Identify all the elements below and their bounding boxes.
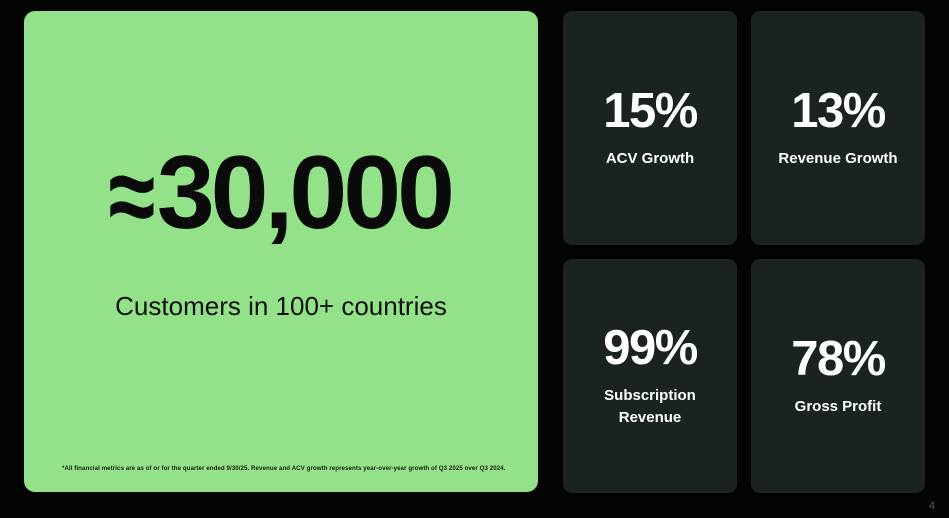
hero-figure: ≈30,000: [111, 141, 451, 245]
stat-card-revenue-growth: 13% Revenue Growth: [751, 11, 925, 245]
stat-value: 13%: [791, 87, 885, 136]
stats-grid: 15% ACV Growth 13% Revenue Growth 99% Su…: [563, 11, 925, 492]
hero-figure-value: 30,000: [157, 135, 451, 251]
stat-card-subscription-revenue: 99% Subscription Revenue: [563, 259, 737, 493]
stat-label: Subscription Revenue: [585, 385, 715, 429]
stat-card-gross-profit: 78% Gross Profit: [751, 259, 925, 493]
stat-label: Gross Profit: [795, 396, 882, 418]
footnote-disclaimer: *All financial metrics are as of or for …: [62, 463, 514, 474]
slide-canvas: ≈30,000 Customers in 100+ countries *All…: [0, 0, 949, 518]
approximately-equal-icon: ≈: [109, 141, 153, 251]
hero-highlight-panel: ≈30,000 Customers in 100+ countries *All…: [24, 11, 538, 492]
hero-subtitle: Customers in 100+ countries: [115, 291, 447, 322]
hero-content: ≈30,000 Customers in 100+ countries: [24, 11, 538, 451]
stat-label: ACV Growth: [606, 148, 694, 170]
stat-value: 78%: [791, 335, 885, 384]
stat-value: 99%: [603, 324, 697, 373]
stat-card-acv-growth: 15% ACV Growth: [563, 11, 737, 245]
page-number: 4: [929, 500, 935, 512]
stat-label: Revenue Growth: [778, 148, 897, 170]
stat-value: 15%: [603, 87, 697, 136]
